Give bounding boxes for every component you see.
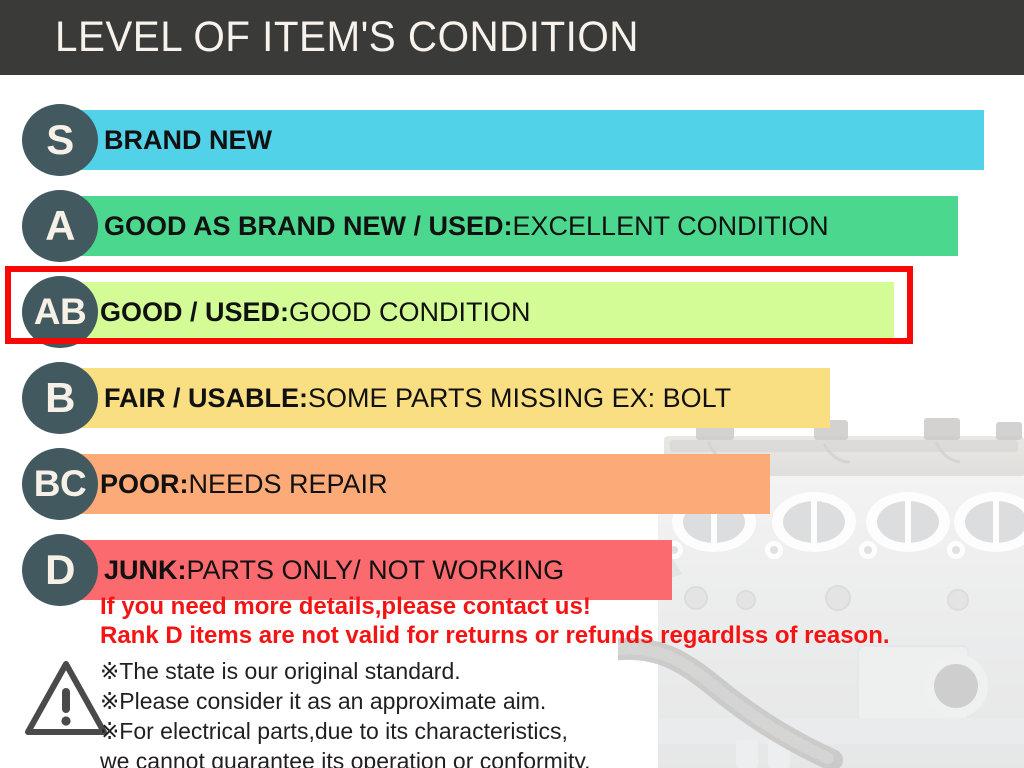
page-title: LEVEL OF ITEM'S CONDITION xyxy=(55,13,639,62)
note-gray-line: we cannot guarantee its operation or con… xyxy=(100,746,890,768)
rank-label-normal: PARTS ONLY/ NOT WORKING xyxy=(187,555,565,586)
rank-badge-ab: AB xyxy=(22,276,98,348)
rank-label-bc: POOR: NEEDS REPAIR xyxy=(100,448,388,520)
warning-triangle-icon xyxy=(24,656,108,740)
rank-badge-b: B xyxy=(22,362,98,434)
rank-label-b: FAIR / USABLE: SOME PARTS MISSING EX: BO… xyxy=(104,362,731,434)
rank-label-a: GOOD AS BRAND NEW / USED: EXCELLENT COND… xyxy=(104,190,829,262)
rank-badge-s: S xyxy=(22,104,98,176)
rank-badge-d: D xyxy=(22,534,98,606)
note-gray-line: ※The state is our original standard. xyxy=(100,656,890,686)
rank-label-s: BRAND NEW xyxy=(104,104,272,176)
header-bar: LEVEL OF ITEM'S CONDITION xyxy=(0,0,1024,75)
rank-label-bold: GOOD / USED: xyxy=(100,297,289,328)
rank-row-s: SBRAND NEW xyxy=(0,104,1024,176)
note-red-line: Rank D items are not valid for returns o… xyxy=(100,621,890,650)
rank-label-bold: POOR: xyxy=(100,469,189,500)
rank-label-normal: NEEDS REPAIR xyxy=(189,469,388,500)
notes-red-block: If you need more details,please contact … xyxy=(100,592,890,650)
condition-level-infographic: LEVEL OF ITEM'S CONDITION SBRAND NEWAGOO… xyxy=(0,0,1024,768)
rank-badge-a: A xyxy=(22,190,98,262)
note-gray-line: ※For electrical parts,due to its charact… xyxy=(100,716,890,746)
rank-label-bold: JUNK: xyxy=(104,555,187,586)
rank-label-normal: GOOD CONDITION xyxy=(289,297,531,328)
rank-label-ab: GOOD / USED: GOOD CONDITION xyxy=(100,276,531,348)
notes-gray-block: ※The state is our original standard. ※Pl… xyxy=(100,656,890,768)
rank-label-bold: FAIR / USABLE: xyxy=(104,383,308,414)
rank-label-bold: BRAND NEW xyxy=(104,125,272,156)
rank-label-normal: SOME PARTS MISSING EX: BOLT xyxy=(308,383,731,414)
rank-row-ab: ABGOOD / USED: GOOD CONDITION xyxy=(0,276,1024,348)
rank-row-a: AGOOD AS BRAND NEW / USED: EXCELLENT CON… xyxy=(0,190,1024,262)
notes-block: If you need more details,please contact … xyxy=(100,592,890,768)
rank-label-normal: EXCELLENT CONDITION xyxy=(513,211,829,242)
note-gray-line: ※Please consider it as an approximate ai… xyxy=(100,686,890,716)
rank-row-b: BFAIR / USABLE: SOME PARTS MISSING EX: B… xyxy=(0,362,1024,434)
note-red-line: If you need more details,please contact … xyxy=(100,592,890,621)
rank-badge-bc: BC xyxy=(22,448,98,520)
rank-row-bc: BCPOOR: NEEDS REPAIR xyxy=(0,448,1024,520)
rank-label-bold: GOOD AS BRAND NEW / USED: xyxy=(104,211,513,242)
